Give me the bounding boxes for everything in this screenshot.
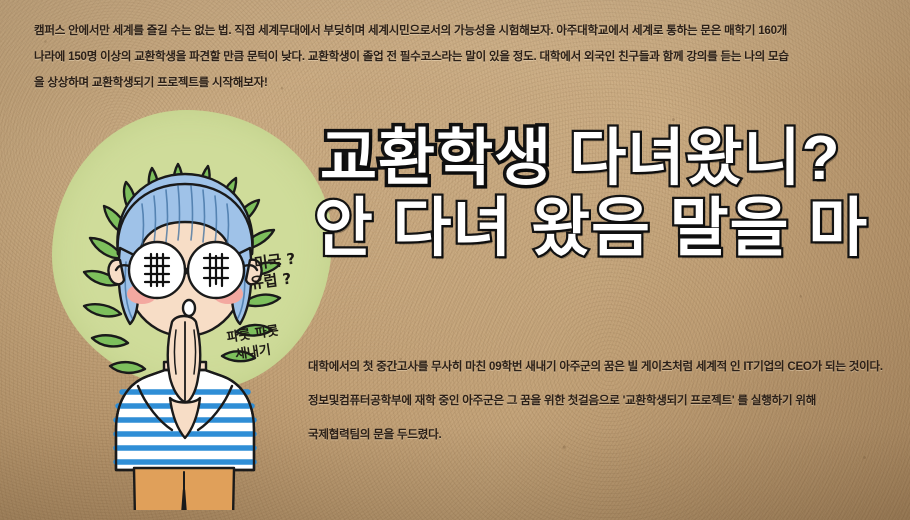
headline-block: 교환학생 다녀왔니? 안 다녀 왔음 말을 마 (320, 128, 910, 260)
poster-canvas: 캠퍼스 안에서만 세계를 즐길 수는 없는 법. 직접 세계무대에서 부딪히며 … (0, 0, 910, 520)
student-character-illustration (60, 130, 310, 510)
intro-line-2: 나라에 150명 이상의 교환학생을 파견할 만큼 문턱이 낮다. 교환학생이 … (34, 44, 884, 70)
body-line-2: 정보및컴퓨터공학부에 재학 중인 아주군은 그 꿈을 위한 첫걸음으로 '교환학… (308, 384, 908, 418)
intro-line-1: 캠퍼스 안에서만 세계를 즐길 수는 없는 법. 직접 세계무대에서 부딪히며 … (34, 18, 884, 44)
headline-emphasis: 교환학생 (320, 124, 552, 193)
mouth (183, 300, 195, 316)
headline-row-2: 안 다녀 왔음 말을 마 (314, 196, 910, 260)
intro-paragraph: 캠퍼스 안에서만 세계를 즐길 수는 없는 법. 직접 세계무대에서 부딪히며 … (34, 18, 884, 96)
headline-row-1-rest: 다녀왔니? (569, 124, 840, 193)
body-line-3: 국제협력팀의 문을 두드렸다. (308, 418, 908, 452)
body-paragraph: 대학에서의 첫 중간고사를 무사히 마친 09학번 새내기 아주군의 꿈은 빌 … (308, 350, 908, 452)
headline-row-1: 교환학생 다녀왔니? (320, 128, 910, 190)
headline-row-2-text: 안 다녀 왔음 말을 마 (314, 192, 868, 264)
handwritten-note-freshman: 파릇 파릇 새내기 (226, 324, 283, 365)
body-line-1: 대학에서의 첫 중간고사를 무사히 마친 09학번 새내기 아주군의 꿈은 빌 … (308, 350, 908, 384)
intro-line-3: 을 상상하며 교환학생되기 프로젝트를 시작해보자! (34, 70, 884, 96)
